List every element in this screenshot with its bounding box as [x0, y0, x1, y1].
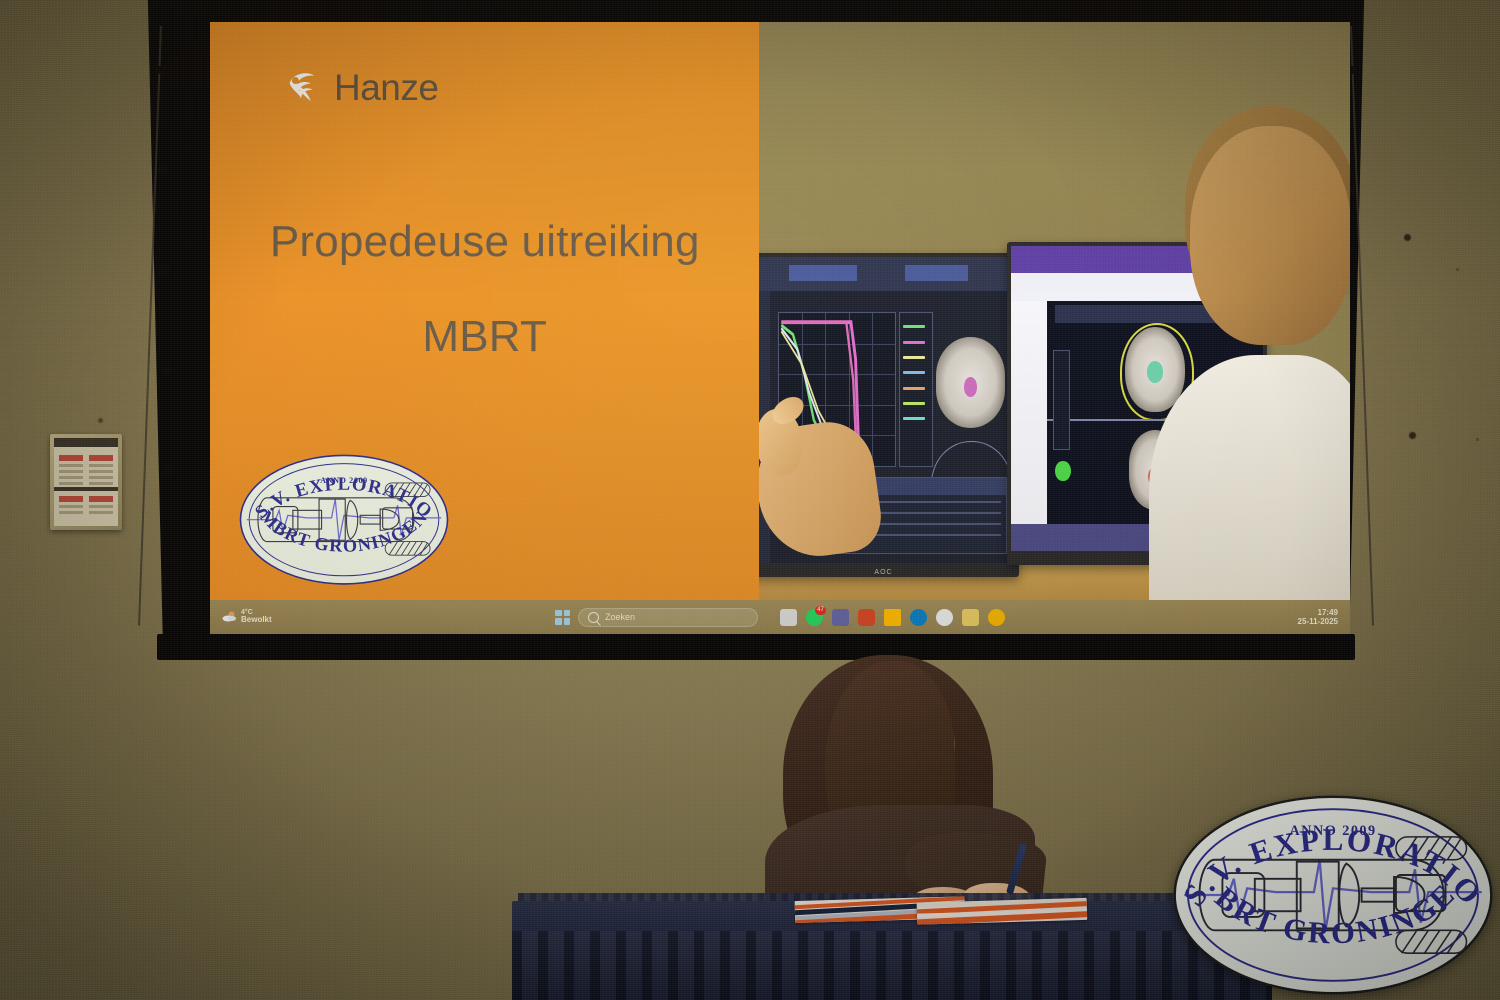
photo-vignette: [0, 0, 1500, 1000]
screenshot-root: Hanze Propedeuse uitreiking MBRT: [0, 0, 1500, 1000]
